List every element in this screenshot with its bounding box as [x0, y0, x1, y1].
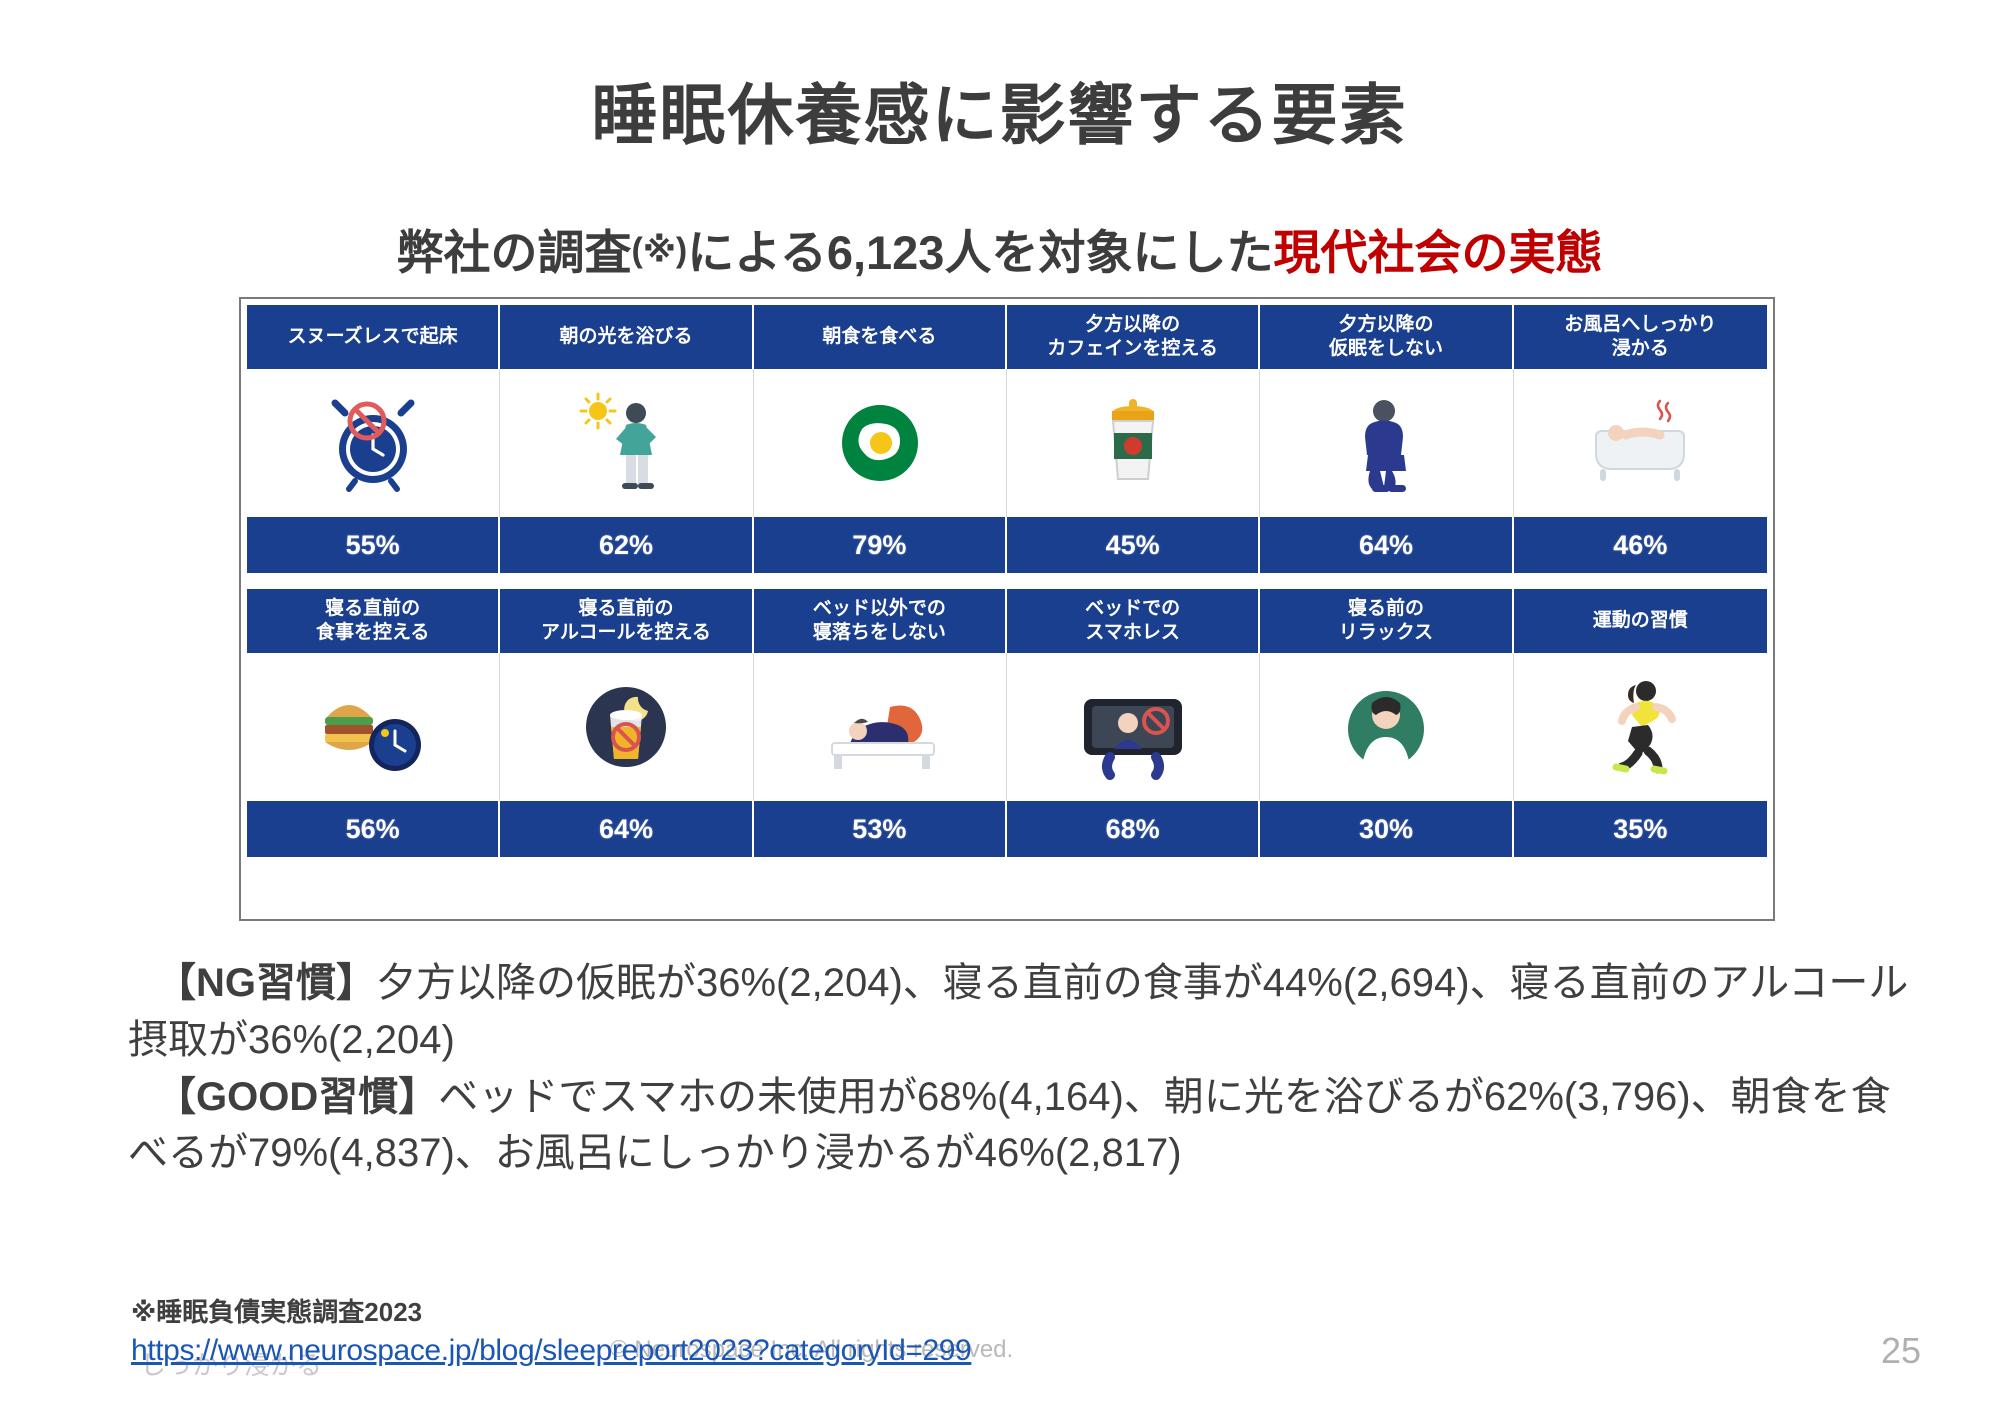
- table-cell: [1514, 653, 1767, 801]
- table-cell: [247, 369, 500, 517]
- habit-percentage: 56%: [247, 801, 500, 857]
- header-row-2: 寝る直前の食事を控える 寝る直前のアルコールを控える ベッド以外での寝落ちをしな…: [247, 589, 1767, 653]
- table-cell: [500, 653, 753, 801]
- table-cell: 朝の光を浴びる: [500, 305, 753, 369]
- header-row-1: スヌーズレスで起床 朝の光を浴びる 朝食を食べる 夕方以降のカフェインを控える …: [247, 305, 1767, 369]
- table-cell: [1514, 369, 1767, 517]
- ng-habits-text: 夕方以降の仮眠が36%(2,204)、寝る直前の食事が44%(2,694)、寝る…: [128, 961, 1908, 1062]
- table-cell: 79%: [754, 517, 1007, 573]
- habit-label: 夕方以降の仮眠をしない: [1260, 305, 1513, 369]
- habit-label: 朝食を食べる: [754, 305, 1007, 369]
- table-cell: [1260, 653, 1513, 801]
- good-habits-label: 【GOOD習慣】: [156, 1075, 438, 1119]
- table-cell: [754, 653, 1007, 801]
- habit-label: お風呂へしっかり浸かる: [1514, 305, 1767, 369]
- habits-table-row-2: 寝る直前の食事を控える 寝る直前のアルコールを控える ベッド以外での寝落ちをしな…: [247, 589, 1767, 857]
- burger-clock-icon: [247, 653, 500, 801]
- table-cell: [1007, 653, 1260, 801]
- page-number: 25: [1881, 1330, 1921, 1372]
- habit-label: スヌーズレスで起床: [247, 305, 500, 369]
- habits-table: スヌーズレスで起床 朝の光を浴びる 朝食を食べる 夕方以降のカフェインを控える …: [239, 297, 1775, 921]
- source-note: ※睡眠負債実態調査2023: [131, 1292, 422, 1329]
- beer-glass-moon-icon: [500, 653, 753, 801]
- sitting-person-nap-icon: [1260, 369, 1513, 517]
- fried-egg-icon: [754, 369, 1007, 517]
- table-cell: 夕方以降の仮眠をしない: [1260, 305, 1513, 369]
- value-row-2: 56% 64% 53% 68% 30% 35%: [247, 801, 1767, 857]
- page-subtitle: 弊社の調査(※)による6,123人を対象にした現代社会の実態: [0, 214, 1999, 283]
- table-cell: 46%: [1514, 517, 1767, 573]
- icon-row-1: [247, 369, 1767, 517]
- habit-label: 寝る前のリラックス: [1260, 589, 1513, 653]
- table-cell: 夕方以降のカフェインを控える: [1007, 305, 1260, 369]
- table-cell: 寝る直前の食事を控える: [247, 589, 500, 653]
- table-cell: 68%: [1007, 801, 1260, 857]
- icon-row-2: [247, 653, 1767, 801]
- habit-label: 寝る直前の食事を控える: [247, 589, 500, 653]
- table-cell: [1007, 369, 1260, 517]
- habit-percentage: 79%: [754, 517, 1007, 573]
- table-cell: 運動の習慣: [1514, 589, 1767, 653]
- page-title: 睡眠休養感に影響する要素: [0, 62, 1999, 158]
- habit-label: 運動の習慣: [1514, 589, 1767, 653]
- table-cell: [247, 653, 500, 801]
- habit-label: 夕方以降のカフェインを控える: [1007, 305, 1260, 369]
- smartphone-no-use-icon: [1007, 653, 1260, 801]
- table-cell: 35%: [1514, 801, 1767, 857]
- habit-percentage: 35%: [1514, 801, 1767, 857]
- habit-label: 寝る直前のアルコールを控える: [500, 589, 753, 653]
- row-divider: [247, 573, 1767, 589]
- habit-percentage: 62%: [500, 517, 753, 573]
- good-habits-note: 【GOOD習慣】ベッドでスマホの未使用が68%(4,164)、朝に光を浴びるが6…: [128, 1069, 1928, 1183]
- table-cell: [754, 369, 1007, 517]
- table-cell: 寝る直前のアルコールを控える: [500, 589, 753, 653]
- table-cell: お風呂へしっかり浸かる: [1514, 305, 1767, 369]
- subtitle-lead: 弊社の調査: [397, 226, 632, 279]
- subtitle-middle: による6,123人を対象にした: [687, 226, 1273, 279]
- table-cell: 62%: [500, 517, 753, 573]
- table-cell: 64%: [500, 801, 753, 857]
- table-cell: ベッド以外での寝落ちをしない: [754, 589, 1007, 653]
- person-asleep-on-sofa-icon: [754, 653, 1007, 801]
- table-cell: 朝食を食べる: [754, 305, 1007, 369]
- relaxing-person-icon: [1260, 653, 1513, 801]
- habit-percentage: 30%: [1260, 801, 1513, 857]
- habit-percentage: 64%: [500, 801, 753, 857]
- ng-habits-label: 【NG習慣】: [156, 961, 376, 1005]
- morning-sunlight-person-icon: [500, 369, 753, 517]
- habit-percentage: 64%: [1260, 517, 1513, 573]
- table-cell: 寝る前のリラックス: [1260, 589, 1513, 653]
- table-cell: 64%: [1260, 517, 1513, 573]
- table-cell: 53%: [754, 801, 1007, 857]
- table-cell: 45%: [1007, 517, 1260, 573]
- bathtub-icon: [1514, 369, 1767, 517]
- habit-percentage: 46%: [1514, 517, 1767, 573]
- table-cell: スヌーズレスで起床: [247, 305, 500, 369]
- slide-canvas: 睡眠休養感に影響する要素 弊社の調査(※)による6,123人を対象にした現代社会…: [0, 0, 1999, 1414]
- habit-label: ベッドでのスマホレス: [1007, 589, 1260, 653]
- table-cell: ベッドでのスマホレス: [1007, 589, 1260, 653]
- habit-percentage: 68%: [1007, 801, 1260, 857]
- running-person-icon: [1514, 653, 1767, 801]
- coffee-cup-icon: [1007, 369, 1260, 517]
- table-cell: 30%: [1260, 801, 1513, 857]
- habit-percentage: 55%: [247, 517, 500, 573]
- subtitle-reference-mark: (※): [632, 232, 688, 270]
- source-url-link[interactable]: https://www.neurospace.jp/blog/sleeprepo…: [131, 1334, 971, 1368]
- value-row-1: 55% 62% 79% 45% 64% 46%: [247, 517, 1767, 573]
- table-cell: 55%: [247, 517, 500, 573]
- habit-label: ベッド以外での寝落ちをしない: [754, 589, 1007, 653]
- habit-percentage: 45%: [1007, 517, 1260, 573]
- alarm-clock-no-snooze-icon: [247, 369, 500, 517]
- habit-label: 朝の光を浴びる: [500, 305, 753, 369]
- ng-habits-note: 【NG習慣】夕方以降の仮眠が36%(2,204)、寝る直前の食事が44%(2,6…: [128, 955, 1928, 1069]
- table-cell: [1260, 369, 1513, 517]
- habits-table-row-1: スヌーズレスで起床 朝の光を浴びる 朝食を食べる 夕方以降のカフェインを控える …: [247, 305, 1767, 573]
- table-cell: [500, 369, 753, 517]
- habit-percentage: 53%: [754, 801, 1007, 857]
- summary-notes: 【NG習慣】夕方以降の仮眠が36%(2,204)、寝る直前の食事が44%(2,6…: [128, 955, 1928, 1182]
- table-cell: 56%: [247, 801, 500, 857]
- subtitle-highlight: 現代社会の実態: [1273, 226, 1602, 279]
